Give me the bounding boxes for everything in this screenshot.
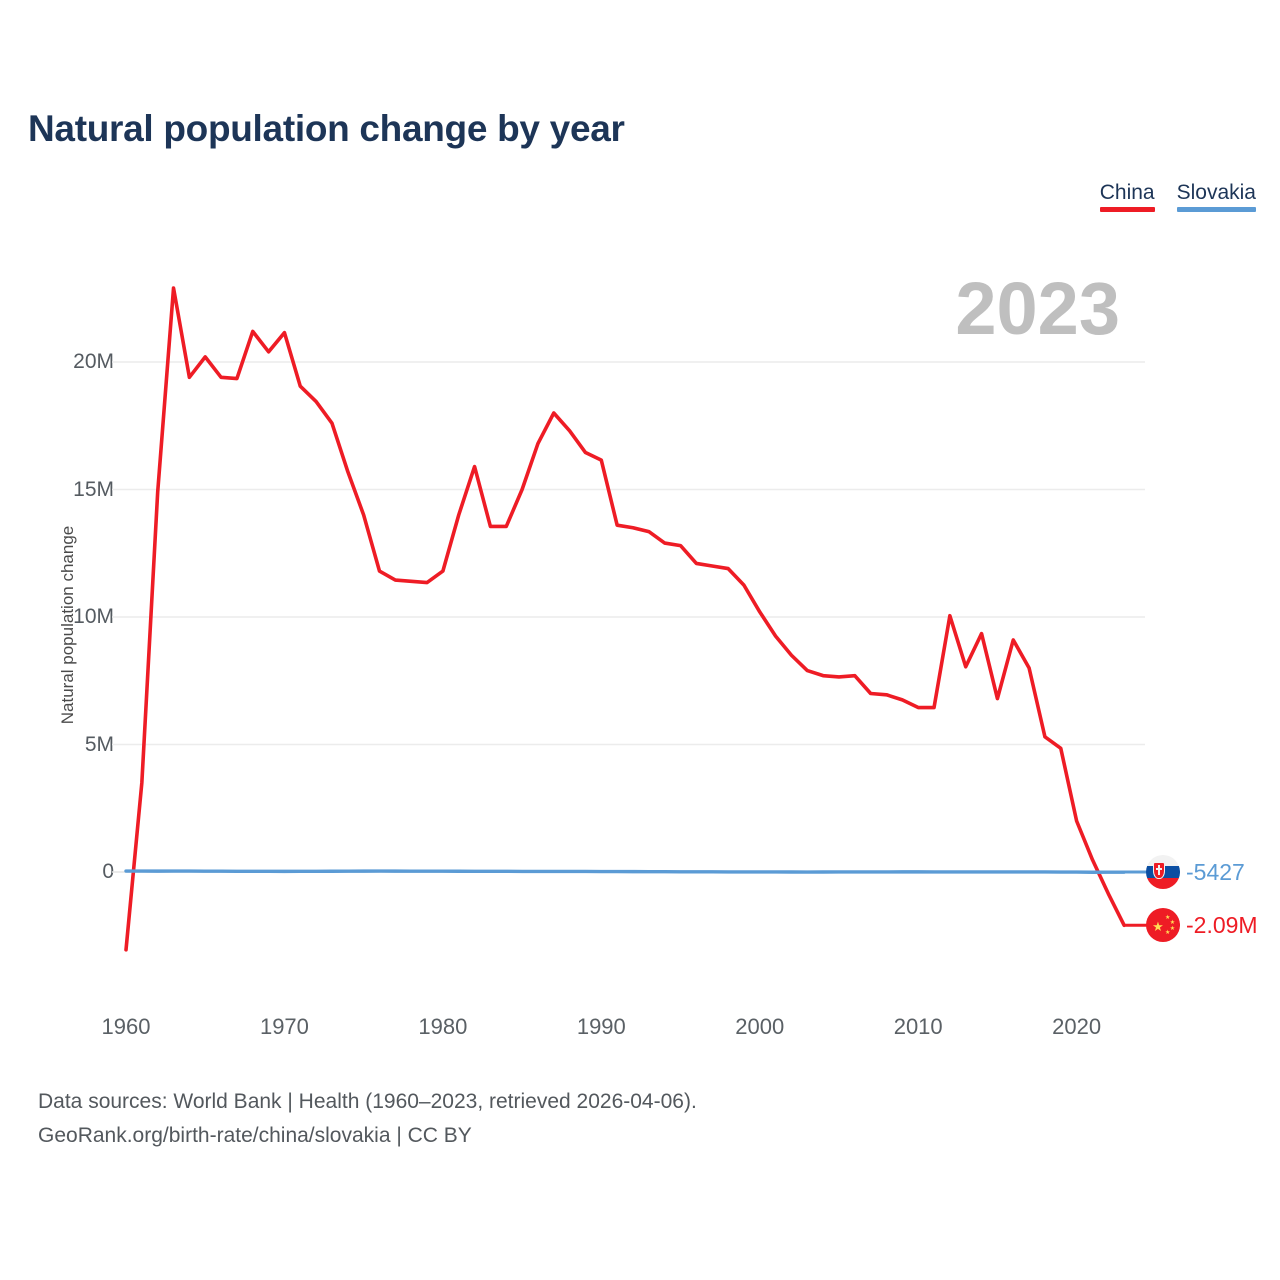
footer-attribution: GeoRank.org/birth-rate/china/slovakia | … xyxy=(38,1119,697,1153)
slovakia-flag-icon xyxy=(1146,855,1180,889)
endpoint-value-slovakia: -5427 xyxy=(1186,861,1245,884)
y-tick-label: 15M xyxy=(34,478,114,502)
legend-swatch-china xyxy=(1100,207,1155,212)
y-tick-label: 0 xyxy=(34,860,114,884)
legend-swatch-slovakia xyxy=(1177,207,1256,212)
legend: China Slovakia xyxy=(1100,182,1256,212)
endpoint-value-china: -2.09M xyxy=(1186,914,1258,937)
legend-item-china[interactable]: China xyxy=(1100,182,1155,212)
page-title: Natural population change by year xyxy=(28,108,625,150)
y-tick-label: 20M xyxy=(34,350,114,374)
year-watermark: 2023 xyxy=(955,272,1120,346)
y-tick-label: 10M xyxy=(34,605,114,629)
gridlines xyxy=(112,362,1145,872)
legend-label-slovakia: Slovakia xyxy=(1177,182,1256,207)
x-tick-label: 1960 xyxy=(102,1014,151,1040)
endpoint-china[interactable]: ★ ★ ★ ★ ★ -2.09M xyxy=(1146,908,1258,942)
x-tick-label: 2010 xyxy=(894,1014,943,1040)
y-tick-label: 5M xyxy=(34,733,114,757)
series-lines xyxy=(126,288,1124,950)
footer-data-sources: Data sources: World Bank | Health (1960–… xyxy=(38,1085,697,1119)
endpoint-slovakia[interactable]: -5427 xyxy=(1146,855,1245,889)
x-tick-label: 1990 xyxy=(577,1014,626,1040)
x-tick-label: 1980 xyxy=(418,1014,467,1040)
series-line-china xyxy=(126,288,1124,950)
china-flag-icon: ★ ★ ★ ★ ★ xyxy=(1146,908,1180,942)
series-line-slovakia xyxy=(126,871,1124,872)
x-tick-label: 2020 xyxy=(1052,1014,1101,1040)
legend-label-china: China xyxy=(1100,182,1155,207)
legend-item-slovakia[interactable]: Slovakia xyxy=(1177,182,1256,212)
x-tick-label: 2000 xyxy=(735,1014,784,1040)
chart-page: Natural population change by year China … xyxy=(0,0,1280,1280)
x-tick-label: 1970 xyxy=(260,1014,309,1040)
footer: Data sources: World Bank | Health (1960–… xyxy=(38,1085,697,1153)
